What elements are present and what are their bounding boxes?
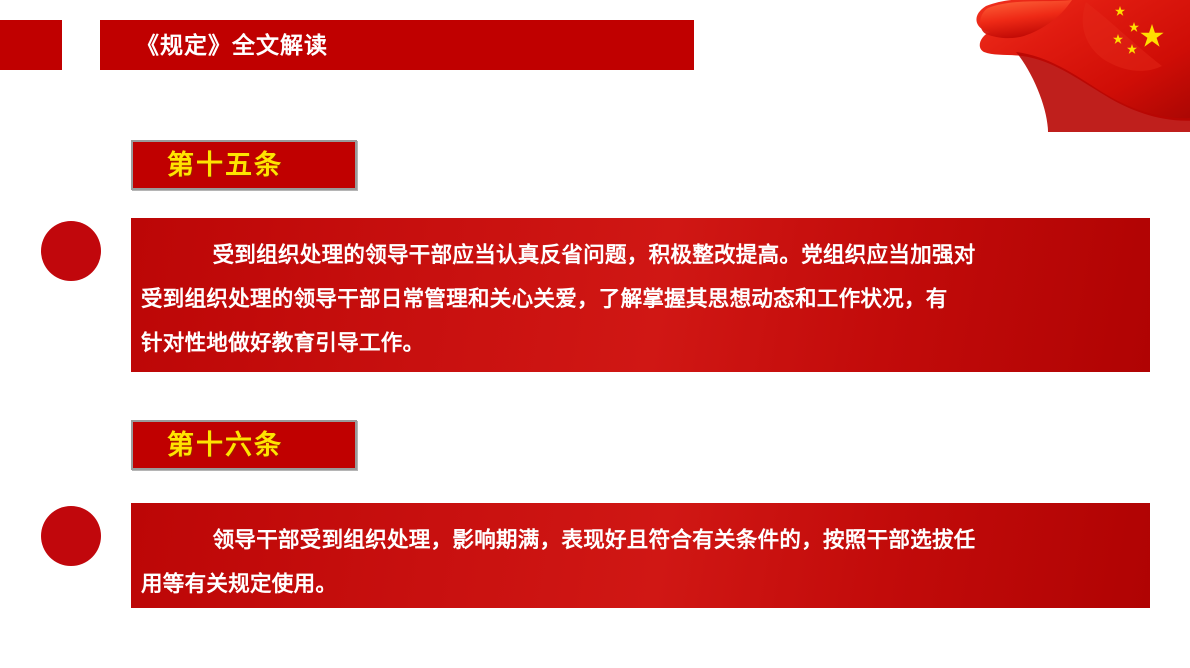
body-line: 受到组织处理的领导干部日常管理和关心关爱，了解掌握其思想动态和工作状况，有 [141, 282, 948, 313]
section-heading-1: 第十五条 [167, 140, 283, 190]
body-line: 领导干部受到组织处理，影响期满，表现好且符合有关条件的，按照干部选拔任 [169, 523, 976, 554]
section-body-panel-2: 领导干部受到组织处理，影响期满，表现好且符合有关条件的，按照干部选拔任 用等有关… [131, 503, 1150, 608]
page-title: 《规定》全文解读 [136, 20, 328, 70]
bullet-dot-1 [41, 221, 101, 281]
body-line: 针对性地做好教育引导工作。 [141, 326, 424, 357]
body-line: 用等有关规定使用。 [141, 567, 337, 598]
section-heading-2: 第十六条 [167, 420, 283, 470]
section-body-panel-1: 受到组织处理的领导干部应当认真反省问题，积极整改提高。党组织应当加强对 受到组织… [131, 218, 1150, 372]
slide-root: 《规定》全文解读 [0, 0, 1190, 668]
header-left-accent-block [0, 20, 62, 70]
china-flag-image [956, 0, 1190, 132]
bullet-dot-2 [41, 506, 101, 566]
body-line: 受到组织处理的领导干部应当认真反省问题，积极整改提高。党组织应当加强对 [169, 238, 976, 269]
